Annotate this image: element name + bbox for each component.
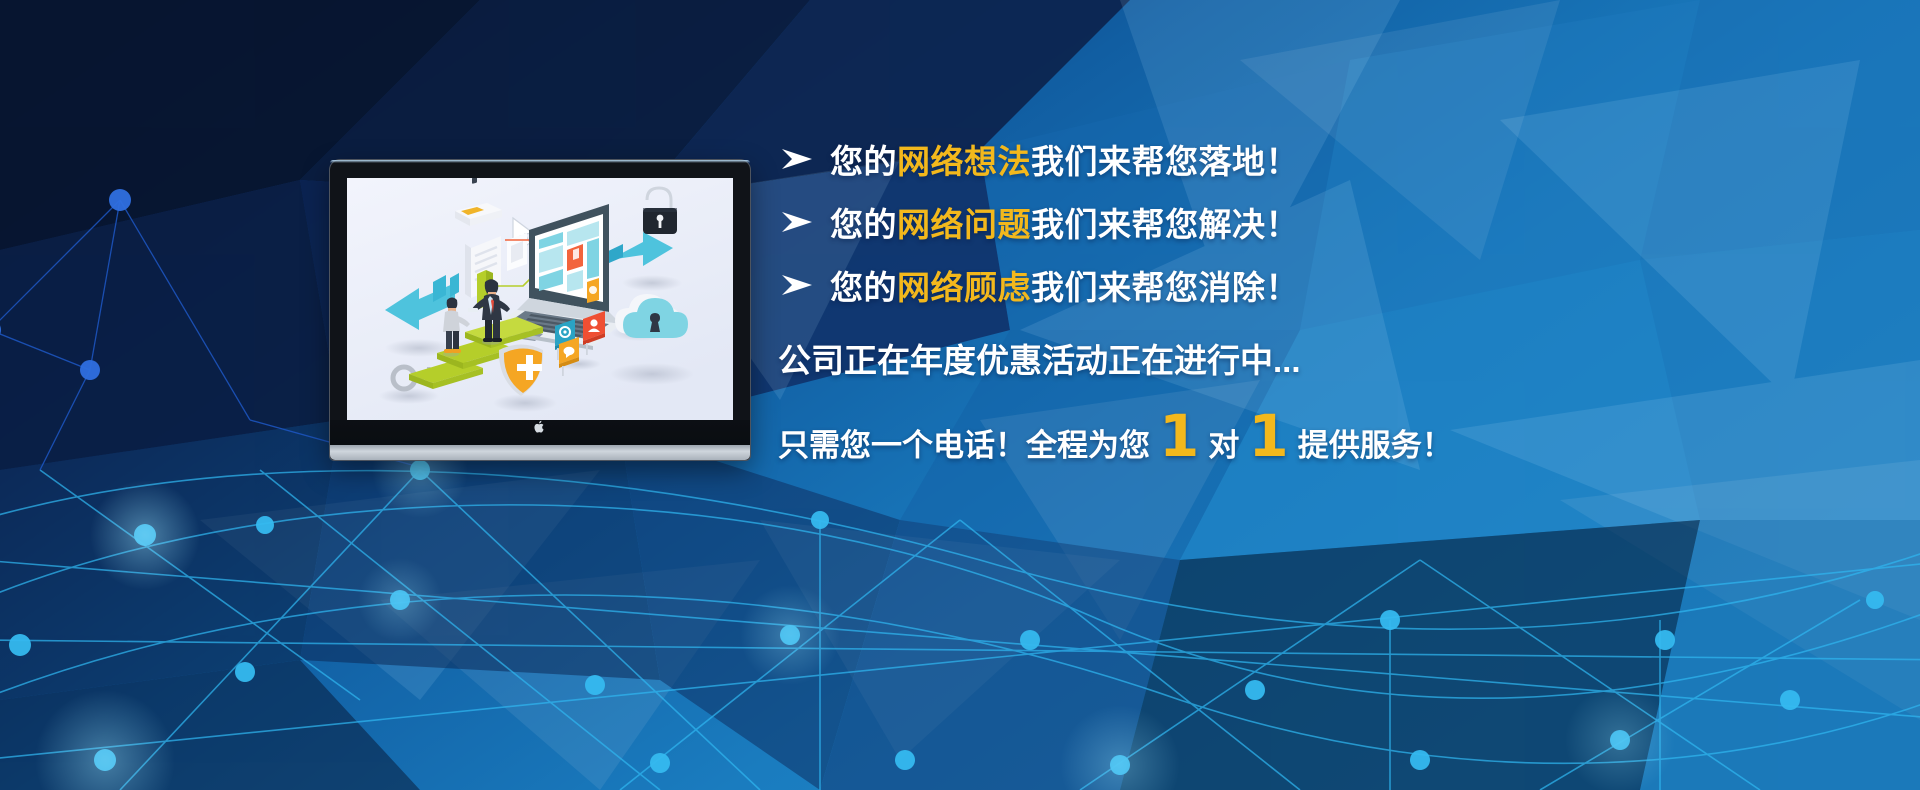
bullet-row: 您的网络顾虑我们来帮您消除！ [780, 256, 1780, 314]
bullet-text: 您的网络想法我们来帮您落地！ [830, 135, 1299, 183]
triangle-arrow-icon [780, 211, 830, 233]
cta-part1: 只需您一个电话！全程为您 [778, 420, 1150, 465]
banner-copy-column: 您的网络想法我们来帮您落地！ 您的网络问题我们来帮您解决！ 您的网络顾虑我们来帮… [780, 130, 1780, 465]
bullet-text: 您的网络问题我们来帮您解决！ [830, 198, 1299, 246]
call-to-action-line: 只需您一个电话！全程为您 1 对 1 提供服务！ [778, 410, 1780, 465]
apple-display-monitor [330, 160, 750, 460]
promo-text: 公司正在年度优惠活动正在进行中... [778, 334, 1780, 382]
bullet-prefix: 您的 [830, 206, 897, 243]
bullet-suffix: 我们来帮您消除！ [1031, 269, 1299, 306]
bullet-text: 您的网络顾虑我们来帮您消除！ [830, 261, 1299, 309]
bullet-row: 您的网络想法我们来帮您落地！ [780, 130, 1780, 188]
promotional-banner: 您的网络想法我们来帮您落地！ 您的网络问题我们来帮您解决！ 您的网络顾虑我们来帮… [0, 0, 1920, 790]
triangle-arrow-icon [780, 148, 830, 170]
bullet-row: 您的网络问题我们来帮您解决！ [780, 193, 1780, 251]
bullet-prefix: 您的 [830, 143, 897, 180]
cta-number-one-second: 1 [1239, 410, 1297, 462]
bullet-suffix: 我们来帮您解决！ [1031, 206, 1299, 243]
cta-number-one-first: 1 [1150, 410, 1208, 462]
bullet-highlight: 网络想法 [897, 143, 1031, 180]
cta-part2: 提供服务！ [1298, 420, 1453, 465]
bullet-prefix: 您的 [830, 269, 897, 306]
bullet-suffix: 我们来帮您落地！ [1031, 143, 1299, 180]
triangle-arrow-icon [780, 274, 830, 296]
bullet-highlight: 网络顾虑 [897, 269, 1031, 306]
cta-middle: 对 [1208, 420, 1239, 465]
bullet-highlight: 网络问题 [897, 206, 1031, 243]
isometric-illustration [347, 178, 733, 420]
apple-logo-icon [534, 420, 546, 434]
monitor-screen [347, 178, 733, 420]
